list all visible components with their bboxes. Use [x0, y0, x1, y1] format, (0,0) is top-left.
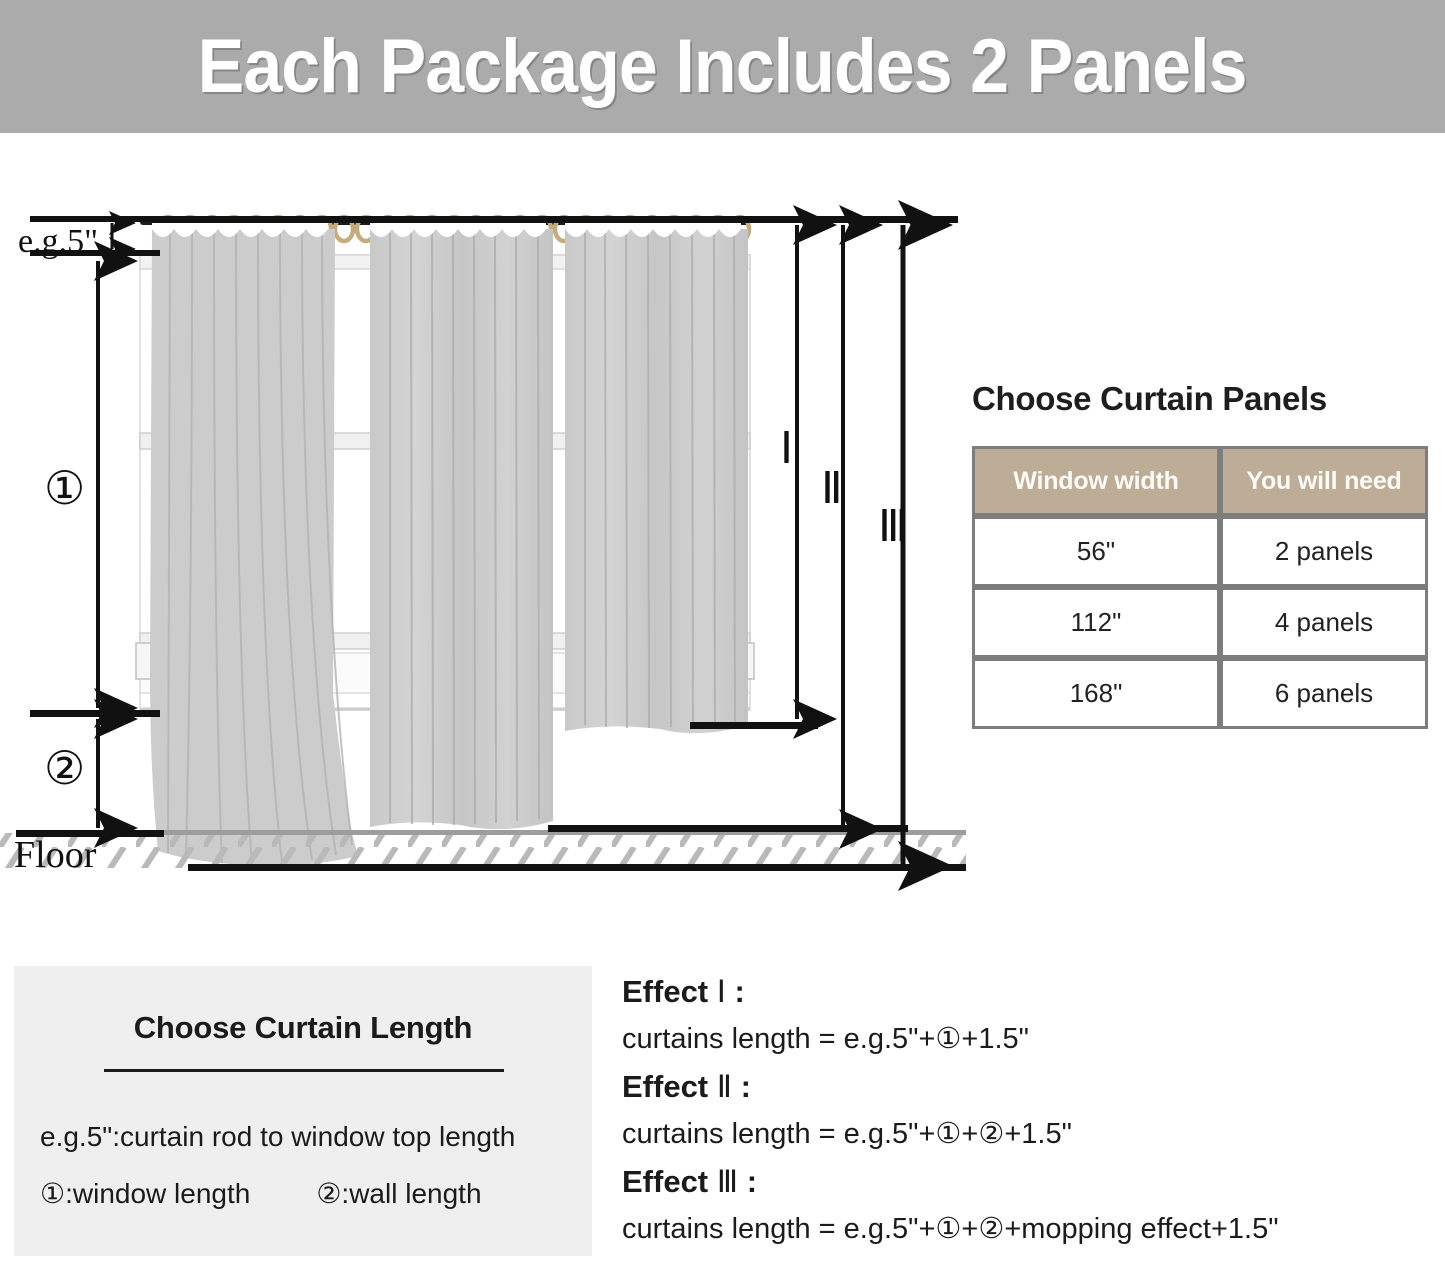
effect-2-formula: curtains length = e.g.5"+①+②+1.5" [622, 1110, 1432, 1158]
effect-2-colon: : [741, 1069, 751, 1104]
effect-3-formula: curtains length = e.g.5"+①+②+mopping eff… [622, 1205, 1432, 1253]
floor-band [0, 830, 966, 871]
label-effect-3-marker: Ⅲ [878, 501, 908, 552]
effect-3-numeral: Ⅲ [717, 1164, 738, 1199]
effect-3-heading: Effect Ⅲ : [622, 1158, 1432, 1205]
panels-table: Window width You will need 56" 2 panels … [972, 446, 1428, 729]
effects-list: Effect Ⅰ : curtains length = e.g.5"+①+1.… [622, 968, 1432, 1253]
choose-curtain-panels-section: Choose Curtain Panels Window width You w… [966, 380, 1436, 729]
effect-1-colon: : [735, 974, 745, 1009]
effect-2-heading: Effect Ⅱ : [622, 1063, 1432, 1110]
label-floor: Floor [14, 833, 96, 877]
length-box-line-1: e.g.5":curtain rod to window top length [40, 1121, 600, 1153]
choose-curtain-length-box: Choose Curtain Length e.g.5":curtain rod… [14, 966, 592, 1256]
legend-spacer [250, 1177, 316, 1210]
header-banner: Each Package Includes 2 Panels [0, 0, 1445, 133]
length-box-title: Choose Curtain Length [14, 1010, 592, 1046]
effect-1-formula: curtains length = e.g.5"+①+1.5" [622, 1015, 1432, 1063]
cell-you-will-need: 2 panels [1220, 516, 1428, 587]
label-rod-gap: e.g.5" [18, 223, 98, 261]
curtain-measurement-diagram: e.g.5" ① ② Floor Ⅰ Ⅱ Ⅲ [0, 133, 970, 923]
effect-1-numeral: Ⅰ [717, 974, 726, 1009]
cell-window-width: 112" [972, 587, 1220, 658]
cell-window-width: 168" [972, 658, 1220, 729]
diagram-svg [0, 133, 970, 923]
column-header-window-width: Window width [972, 446, 1220, 516]
table-row: 168" 6 panels [972, 658, 1428, 729]
effect-3-colon: : [747, 1164, 757, 1199]
length-box-legend-row: ①:window length ②:wall length [40, 1177, 585, 1210]
curtain-panel-effect-3 [150, 221, 358, 866]
panels-title: Choose Curtain Panels [972, 380, 1436, 418]
banner-title: Each Package Includes 2 Panels [198, 23, 1247, 110]
effect-1-heading: Effect Ⅰ : [622, 968, 1432, 1015]
column-header-you-will-need: You will need [1220, 446, 1428, 516]
effect-2-numeral: Ⅱ [717, 1069, 732, 1104]
label-effect-1-marker: Ⅰ [780, 423, 793, 474]
effect-1-label: Effect [622, 974, 708, 1009]
legend-window-length: ①:window length [40, 1177, 250, 1210]
curtain-panel-effect-1 [565, 221, 748, 733]
table-row: 56" 2 panels [972, 516, 1428, 587]
table-header-row: Window width You will need [972, 446, 1428, 516]
legend-wall-length: ②:wall length [316, 1177, 481, 1210]
cell-window-width: 56" [972, 516, 1220, 587]
curtain-panel-effect-2 [370, 221, 553, 829]
effect-2-label: Effect [622, 1069, 708, 1104]
length-box-divider [104, 1069, 504, 1072]
table-row: 112" 4 panels [972, 587, 1428, 658]
label-window-length: ① [44, 461, 85, 515]
effect-3-label: Effect [622, 1164, 708, 1199]
label-effect-2-marker: Ⅱ [821, 463, 843, 514]
label-wall-length: ② [44, 741, 85, 795]
cell-you-will-need: 6 panels [1220, 658, 1428, 729]
cell-you-will-need: 4 panels [1220, 587, 1428, 658]
